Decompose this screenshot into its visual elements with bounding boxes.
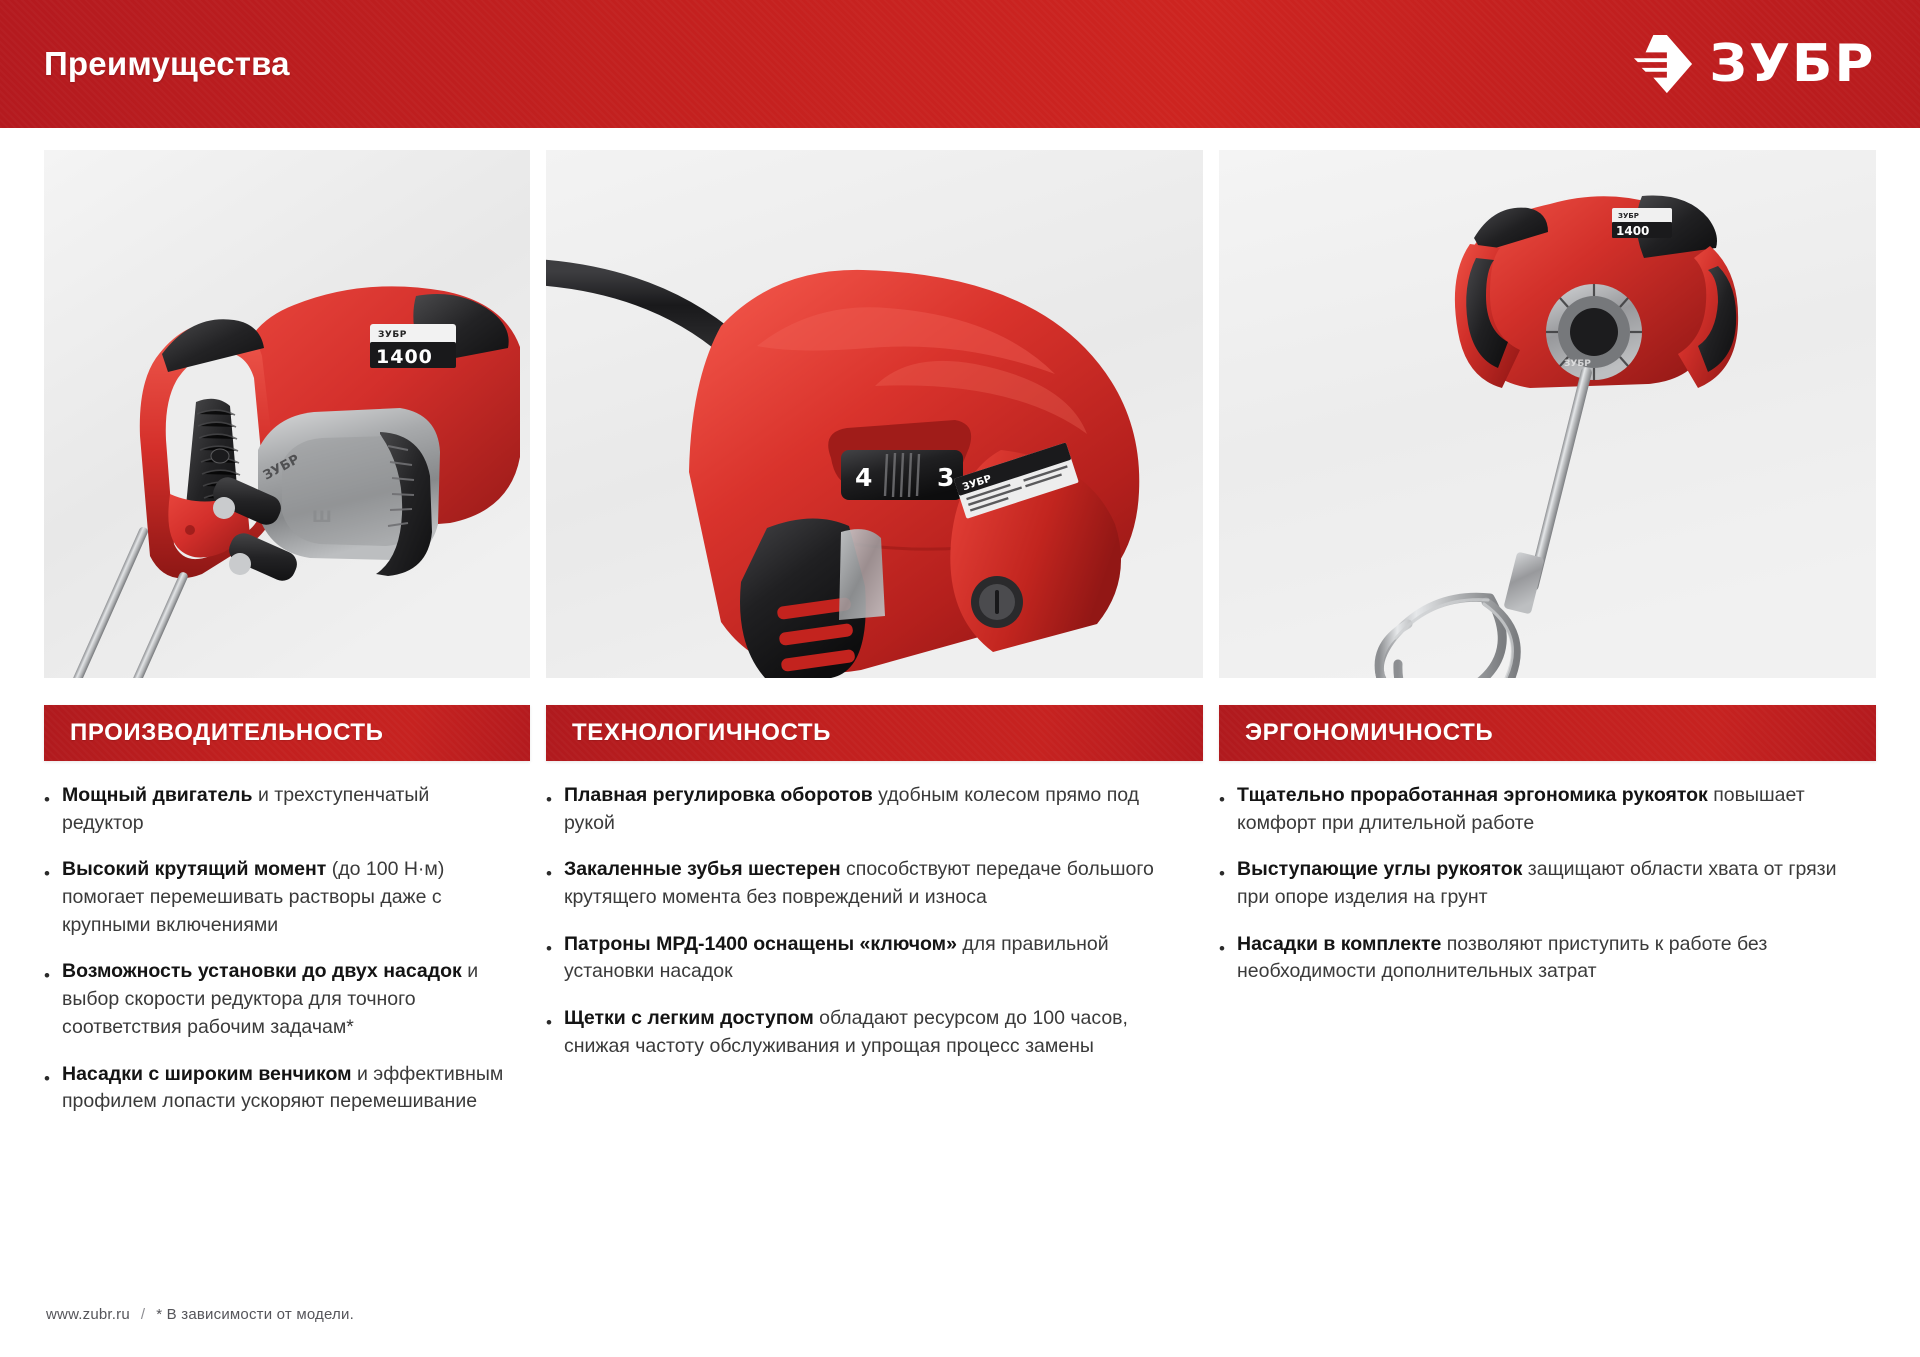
bullet-dot-icon: • — [44, 865, 62, 882]
bullet-dot-icon: • — [546, 940, 564, 957]
feature-text: Тщательно проработанная эргономика рукоя… — [1237, 782, 1862, 837]
category-heading-ergonomics: ЭРГОНОМИЧНОСТЬ — [1219, 705, 1876, 761]
footer-footnote: * В зависимости от модели. — [156, 1306, 354, 1323]
feature-text: Плавная регулировка оборотов удобным кол… — [564, 782, 1189, 837]
svg-text:3: 3 — [937, 463, 954, 492]
feature-text-bold: Возможность установки до двух насадок — [62, 960, 462, 982]
feature-column-ergonomics: • Тщательно проработанная эргономика рук… — [1219, 782, 1876, 1252]
feature-text-bold: Выступающие углы рукояток — [1237, 858, 1522, 880]
feature-text-bold: Патроны МРД-1400 оснащены «ключом» — [564, 933, 957, 955]
feature-text-bold: Плавная регулировка оборотов — [564, 784, 873, 806]
feature-text: Возможность установки до двух насадок и … — [62, 958, 516, 1041]
svg-text:1400: 1400 — [376, 346, 433, 368]
feature-item: • Тщательно проработанная эргономика рук… — [1219, 782, 1862, 837]
feature-text: Закаленные зубья шестерен способствуют п… — [564, 856, 1189, 911]
photo-mixer-gearbox-closeup: 1400 ЗУБР — [44, 150, 530, 678]
feature-item: • Высокий крутящий момент (до 100 Н·м) п… — [44, 856, 516, 939]
page-title: Преимущества — [44, 45, 290, 83]
photo-mixer-speed-dial-closeup: 4 3 min max ЗУБР — [546, 150, 1203, 678]
svg-text:Ш: Ш — [312, 507, 332, 526]
feature-item: • Закаленные зубья шестерен способствуют… — [546, 856, 1189, 911]
bullet-dot-icon: • — [44, 1070, 62, 1087]
feature-text-bold: Тщательно проработанная эргономика рукоя… — [1237, 784, 1708, 806]
feature-item: • Патроны МРД-1400 оснащены «ключом» для… — [546, 931, 1189, 986]
category-heading-performance: ПРОИЗВОДИТЕЛЬНОСТЬ — [44, 705, 530, 761]
bullet-dot-icon: • — [44, 967, 62, 984]
feature-text-bold: Мощный двигатель — [62, 784, 253, 806]
feature-text: Насадки в комплекте позволяют приступить… — [1237, 931, 1862, 986]
page-footer: www.zubr.ru / * В зависимости от модели. — [46, 1306, 354, 1323]
bullet-dot-icon: • — [1219, 791, 1237, 808]
feature-text: Мощный двигатель и трехступенчатый редук… — [62, 782, 516, 837]
category-heading-text: ЭРГОНОМИЧНОСТЬ — [1245, 719, 1493, 747]
footer-separator: / — [141, 1306, 145, 1323]
feature-text: Высокий крутящий момент (до 100 Н·м) пом… — [62, 856, 516, 939]
feature-text-bold: Закаленные зубья шестерен — [564, 858, 841, 880]
footer-website-link[interactable]: www.zubr.ru — [46, 1306, 130, 1323]
feature-text-bold: Щетки с легким доступом — [564, 1007, 814, 1029]
photo-mixer-full-with-paddle: 1400 ЗУБР ЗУБР — [1219, 150, 1876, 678]
zubr-diamond-arrow-icon — [1632, 33, 1694, 95]
feature-columns: • Мощный двигатель и трехступенчатый ред… — [44, 782, 1876, 1252]
feature-item: • Насадки с широким венчиком и эффективн… — [44, 1061, 516, 1116]
svg-text:ЗУБР: ЗУБР — [378, 330, 407, 340]
feature-text: Насадки с широким венчиком и эффективным… — [62, 1061, 516, 1116]
feature-text: Патроны МРД-1400 оснащены «ключом» для п… — [564, 931, 1189, 986]
feature-item: • Возможность установки до двух насадок … — [44, 958, 516, 1041]
category-heading-text: ПРОИЗВОДИТЕЛЬНОСТЬ — [70, 719, 384, 747]
feature-item: • Плавная регулировка оборотов удобным к… — [546, 782, 1189, 837]
brand-logo: ЗУБР — [1632, 33, 1874, 95]
feature-text-bold: Насадки в комплекте — [1237, 933, 1441, 955]
bullet-dot-icon: • — [546, 791, 564, 808]
feature-column-performance: • Мощный двигатель и трехступенчатый ред… — [44, 782, 530, 1252]
feature-item: • Выступающие углы рукояток защищают обл… — [1219, 856, 1862, 911]
bullet-dot-icon: • — [546, 865, 564, 882]
feature-text-bold: Высокий крутящий момент — [62, 858, 326, 880]
bullet-dot-icon: • — [1219, 940, 1237, 957]
feature-column-technology: • Плавная регулировка оборотов удобным к… — [546, 782, 1203, 1252]
page-header: Преимущества ЗУБР — [0, 0, 1920, 128]
svg-text:ЗУБР: ЗУБР — [1618, 212, 1639, 220]
feature-item: • Насадки в комплекте позволяют приступи… — [1219, 931, 1862, 986]
bullet-dot-icon: • — [1219, 865, 1237, 882]
category-heading-technology: ТЕХНОЛОГИЧНОСТЬ — [546, 705, 1203, 761]
feature-item: • Мощный двигатель и трехступенчатый ред… — [44, 782, 516, 837]
category-heading-text: ТЕХНОЛОГИЧНОСТЬ — [572, 719, 831, 747]
svg-text:1400: 1400 — [1616, 224, 1649, 238]
category-heading-row: ПРОИЗВОДИТЕЛЬНОСТЬ ТЕХНОЛОГИЧНОСТЬ ЭРГОН… — [44, 705, 1876, 761]
feature-text: Щетки с легким доступом обладают ресурсо… — [564, 1005, 1189, 1060]
brand-name: ЗУБР — [1710, 38, 1876, 90]
bullet-dot-icon: • — [44, 791, 62, 808]
feature-text: Выступающие углы рукояток защищают облас… — [1237, 856, 1862, 911]
feature-text-bold: Насадки с широким венчиком — [62, 1063, 352, 1085]
svg-text:4: 4 — [855, 463, 872, 492]
bullet-dot-icon: • — [546, 1014, 564, 1031]
feature-item: • Щетки с легким доступом обладают ресур… — [546, 1005, 1189, 1060]
product-photo-row: 1400 ЗУБР — [44, 150, 1876, 678]
